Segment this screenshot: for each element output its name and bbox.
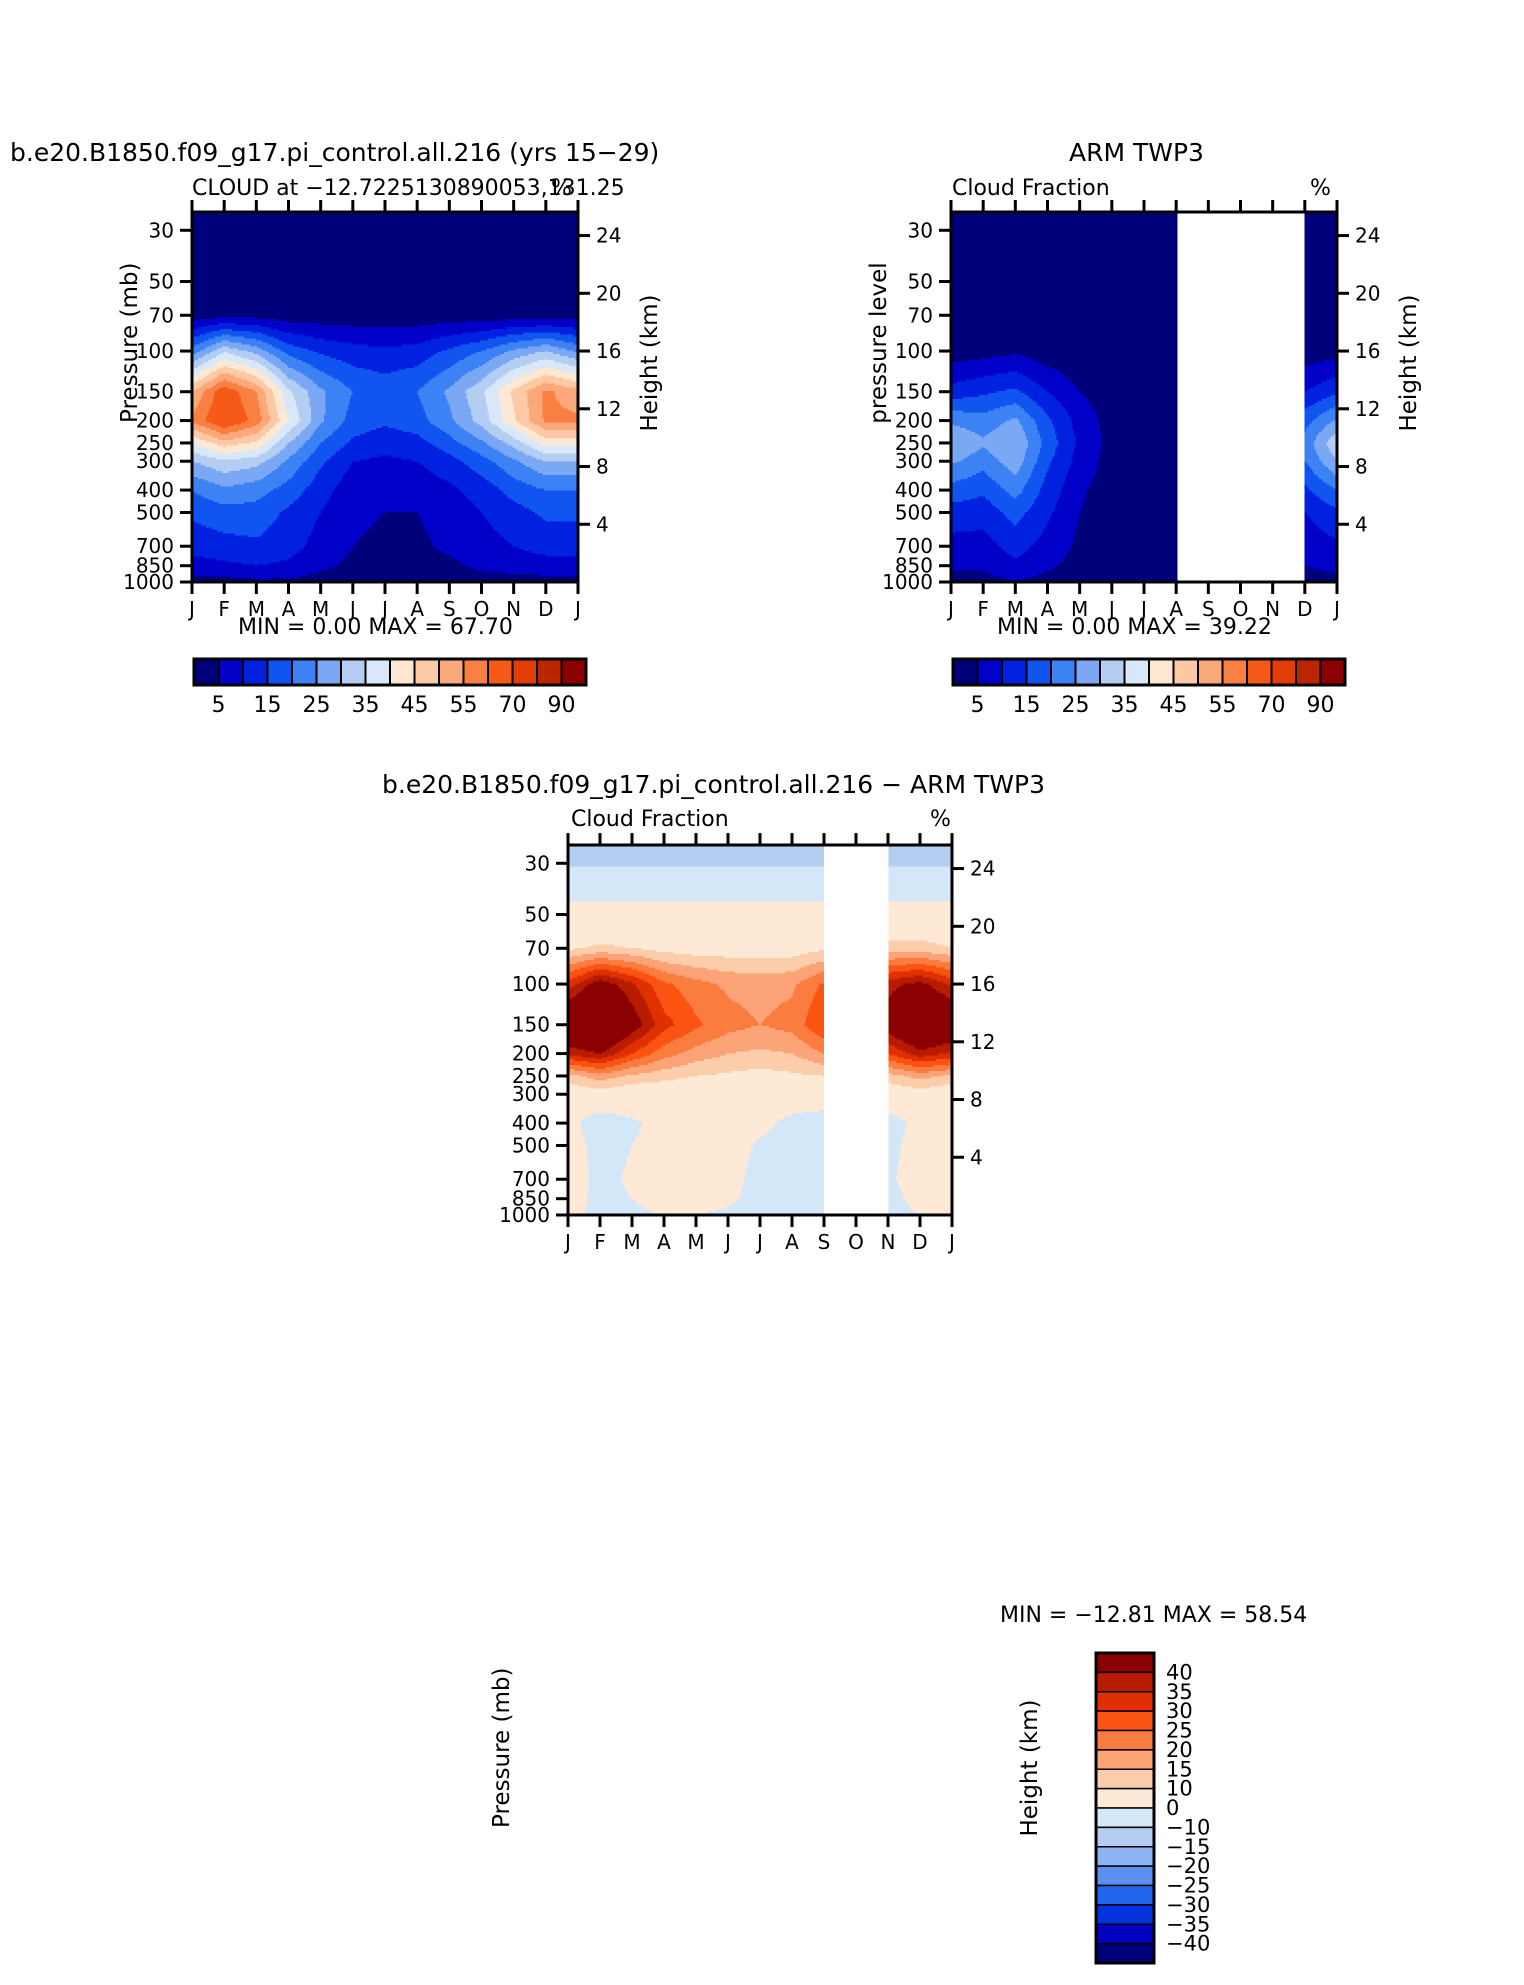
panel-obs: ARM TWP3 Cloud Fraction % pressure level…: [744, 0, 1524, 740]
model-colorbar-tick-label: 35: [352, 693, 380, 718]
month-label: F: [594, 1230, 606, 1254]
month-label: N: [881, 1230, 896, 1254]
month-label: M: [623, 1230, 640, 1254]
month-label: J: [1332, 597, 1340, 621]
month-label: A: [657, 1230, 671, 1254]
panel-model: b.e20.B1850.f09_g17.pi_control.all.216 (…: [0, 0, 780, 740]
height-tick-label: 4: [1355, 512, 1368, 536]
month-label: O: [848, 1230, 864, 1254]
model-colorbar-swatch[interactable]: [513, 659, 538, 685]
height-tick-label: 4: [596, 512, 609, 536]
height-tick-label: 12: [596, 397, 621, 421]
diff-colorbar-swatch[interactable]: [1096, 1905, 1154, 1924]
obs-colorbar-swatch[interactable]: [1272, 659, 1297, 685]
model-colorbar-swatch[interactable]: [194, 659, 219, 685]
obs-colorbar[interactable]: 515253545557090: [939, 655, 1359, 725]
obs-main-title: ARM TWP3: [1069, 138, 1204, 167]
height-tick-label: 24: [970, 857, 995, 881]
model-colorbar-swatch[interactable]: [439, 659, 464, 685]
obs-colorbar-tick-label: 35: [1111, 693, 1139, 718]
diff-colorbar-swatch[interactable]: [1096, 1672, 1154, 1691]
month-label: F: [977, 597, 989, 621]
pressure-tick-label: 500: [895, 500, 933, 524]
diff-colorbar-swatch[interactable]: [1096, 1847, 1154, 1866]
height-tick-label: 24: [1355, 224, 1380, 248]
pressure-tick-label: 400: [512, 1111, 550, 1135]
pressure-tick-label: 50: [149, 270, 174, 294]
month-label: A: [785, 1230, 799, 1254]
obs-colorbar-tick-label: 90: [1307, 693, 1335, 718]
month-label: D: [1297, 597, 1312, 621]
month-label: M: [687, 1230, 704, 1254]
diff-colorbar-swatch[interactable]: [1096, 1866, 1154, 1885]
pressure-tick-label: 50: [525, 903, 550, 927]
model-colorbar-tick-label: 70: [499, 693, 527, 718]
pressure-tick-label: 70: [149, 303, 174, 327]
contour-field: [568, 845, 953, 1216]
obs-colorbar-swatch[interactable]: [1223, 659, 1248, 685]
height-tick-label: 4: [970, 1145, 983, 1169]
pressure-tick-label: 200: [512, 1042, 550, 1066]
diff-plot: 3050701001502002503004005007008501000481…: [0, 823, 1524, 1283]
pressure-tick-label: 500: [512, 1133, 550, 1157]
pressure-tick-label: 150: [512, 1013, 550, 1037]
diff-colorbar-swatch[interactable]: [1096, 1750, 1154, 1769]
height-tick-label: 8: [1355, 455, 1368, 479]
model-colorbar-swatch[interactable]: [268, 659, 293, 685]
diff-ylabel-left: Pressure (mb): [489, 1668, 515, 1828]
diff-colorbar-swatch[interactable]: [1096, 1692, 1154, 1711]
diff-colorbar-swatch[interactable]: [1096, 1924, 1154, 1943]
model-colorbar-tick-label: 90: [548, 693, 576, 718]
model-colorbar-swatch[interactable]: [366, 659, 391, 685]
diff-colorbar[interactable]: 403530252015100−10−15−20−25−30−35−40: [1090, 1645, 1310, 1985]
month-label: D: [912, 1230, 927, 1254]
diff-colorbar-swatch[interactable]: [1096, 1711, 1154, 1730]
pressure-tick-label: 500: [136, 500, 174, 524]
model-colorbar-swatch[interactable]: [317, 659, 342, 685]
pressure-tick-label: 30: [908, 218, 933, 242]
height-tick-label: 8: [970, 1088, 983, 1112]
obs-colorbar-swatch[interactable]: [1125, 659, 1150, 685]
model-colorbar-swatch[interactable]: [537, 659, 562, 685]
obs-colorbar-swatch[interactable]: [1198, 659, 1223, 685]
diff-colorbar-tick-label: −40: [1166, 1932, 1210, 1956]
obs-colorbar-swatch[interactable]: [1027, 659, 1052, 685]
obs-colorbar-swatch[interactable]: [1100, 659, 1125, 685]
height-tick-label: 8: [596, 455, 609, 479]
pressure-tick-label: 1000: [882, 570, 933, 594]
month-label: J: [946, 597, 954, 621]
pressure-tick-label: 50: [908, 270, 933, 294]
obs-colorbar-tick-label: 70: [1258, 693, 1286, 718]
model-colorbar-tick-label: 55: [450, 693, 478, 718]
pressure-tick-label: 300: [512, 1082, 550, 1106]
model-colorbar-tick-label: 5: [212, 693, 226, 718]
obs-colorbar-swatch[interactable]: [1002, 659, 1027, 685]
model-colorbar-swatch[interactable]: [341, 659, 366, 685]
height-tick-label: 16: [596, 339, 621, 363]
model-main-title: b.e20.B1850.f09_g17.pi_control.all.216 (…: [10, 138, 659, 167]
diff-colorbar-swatch[interactable]: [1096, 1886, 1154, 1905]
height-tick-label: 12: [970, 1030, 995, 1054]
month-label: J: [723, 1230, 731, 1254]
obs-colorbar-tick-label: 55: [1209, 693, 1237, 718]
obs-colorbar-swatch[interactable]: [1174, 659, 1199, 685]
obs-colorbar-swatch[interactable]: [953, 659, 978, 685]
model-colorbar-tick-label: 45: [401, 693, 429, 718]
obs-colorbar-tick-label: 5: [971, 693, 985, 718]
pressure-tick-label: 1000: [123, 570, 174, 594]
model-colorbar-swatch[interactable]: [243, 659, 268, 685]
diff-colorbar-swatch[interactable]: [1096, 1827, 1154, 1846]
diff-colorbar-swatch[interactable]: [1096, 1789, 1154, 1808]
obs-colorbar-tick-label: 25: [1062, 693, 1090, 718]
model-colorbar-swatch[interactable]: [488, 659, 513, 685]
model-colorbar-swatch[interactable]: [219, 659, 244, 685]
diff-colorbar-swatch[interactable]: [1096, 1653, 1154, 1672]
diff-minmax: MIN = −12.81 MAX = 58.54: [1000, 1603, 1307, 1628]
obs-colorbar-swatch[interactable]: [1051, 659, 1076, 685]
height-tick-label: 16: [970, 972, 995, 996]
obs-colorbar-swatch[interactable]: [978, 659, 1003, 685]
model-colorbar-swatch[interactable]: [562, 659, 587, 685]
model-colorbar-swatch[interactable]: [464, 659, 489, 685]
pressure-tick-label: 200: [136, 409, 174, 433]
model-minmax: MIN = 0.00 MAX = 67.70: [238, 615, 513, 640]
pressure-tick-label: 150: [895, 380, 933, 404]
height-tick-label: 16: [1355, 339, 1380, 363]
obs-minmax: MIN = 0.00 MAX = 39.22: [997, 615, 1272, 640]
month-label: S: [818, 1230, 831, 1254]
pressure-tick-label: 150: [136, 380, 174, 404]
pressure-tick-label: 1000: [499, 1203, 550, 1227]
month-label: J: [947, 1230, 955, 1254]
model-colorbar-swatch[interactable]: [390, 659, 415, 685]
model-colorbar-tick-label: 15: [254, 693, 282, 718]
pressure-tick-label: 400: [136, 478, 174, 502]
height-tick-label: 20: [1355, 281, 1380, 305]
month-label: J: [563, 1230, 571, 1254]
pressure-tick-label: 400: [895, 478, 933, 502]
month-label: D: [538, 597, 553, 621]
diff-colorbar-swatch[interactable]: [1096, 1944, 1154, 1963]
height-tick-label: 12: [1355, 397, 1380, 421]
obs-colorbar-swatch[interactable]: [1149, 659, 1174, 685]
pressure-tick-label: 70: [908, 303, 933, 327]
obs-colorbar-tick-label: 45: [1160, 693, 1188, 718]
diff-colorbar-swatch[interactable]: [1096, 1731, 1154, 1750]
obs-colorbar-swatch[interactable]: [1247, 659, 1272, 685]
model-colorbar[interactable]: 515253545557090: [180, 655, 600, 725]
diff-colorbar-swatch[interactable]: [1096, 1769, 1154, 1788]
month-label: F: [218, 597, 230, 621]
diff-ylabel-right: Height (km): [1017, 1688, 1043, 1848]
obs-colorbar-swatch[interactable]: [1321, 659, 1346, 685]
contour-field: [192, 212, 579, 583]
pressure-tick-label: 30: [149, 218, 174, 242]
obs-colorbar-swatch[interactable]: [1076, 659, 1101, 685]
model-colorbar-swatch[interactable]: [292, 659, 317, 685]
height-tick-label: 20: [596, 281, 621, 305]
pressure-tick-label: 300: [136, 449, 174, 473]
model-colorbar-swatch[interactable]: [415, 659, 440, 685]
pressure-tick-label: 100: [136, 339, 174, 363]
diff-main-title: b.e20.B1850.f09_g17.pi_control.all.216 −…: [382, 770, 1045, 799]
pressure-tick-label: 300: [895, 449, 933, 473]
pressure-tick-label: 200: [895, 409, 933, 433]
pressure-tick-label: 30: [525, 851, 550, 875]
height-tick-label: 24: [596, 224, 621, 248]
height-tick-label: 20: [970, 914, 995, 938]
pressure-tick-label: 100: [895, 339, 933, 363]
obs-colorbar-tick-label: 15: [1013, 693, 1041, 718]
panel-diff: b.e20.B1850.f09_g17.pi_control.all.216 −…: [0, 745, 1524, 1305]
diff-colorbar-swatch[interactable]: [1096, 1808, 1154, 1827]
pressure-tick-label: 100: [512, 972, 550, 996]
month-label: J: [573, 597, 581, 621]
obs-colorbar-swatch[interactable]: [1296, 659, 1321, 685]
model-colorbar-tick-label: 25: [303, 693, 331, 718]
pressure-tick-label: 70: [525, 936, 550, 960]
month-label: J: [187, 597, 195, 621]
month-label: J: [755, 1230, 763, 1254]
